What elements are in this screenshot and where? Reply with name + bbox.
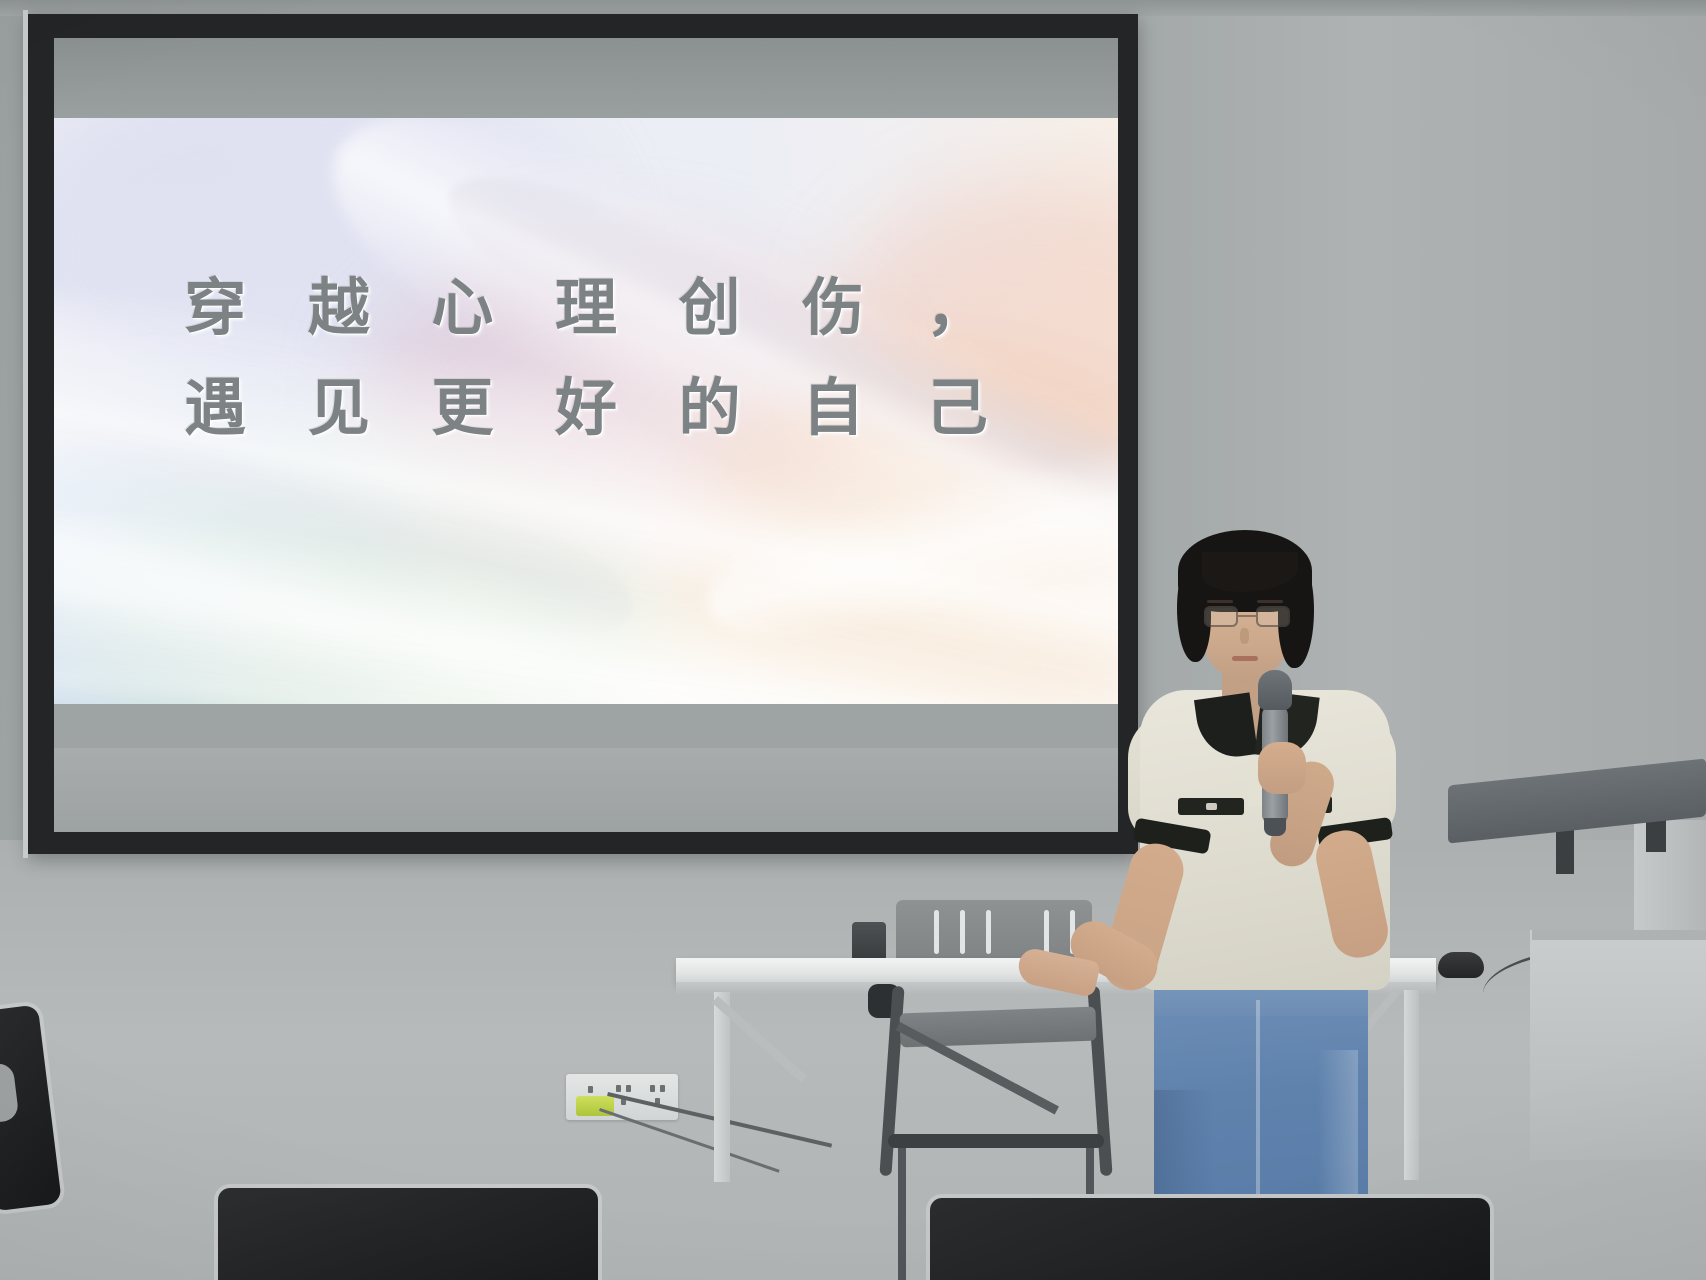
projection-screen-frame: 穿 越 心 理 创 伤 ，遇 见 更 好 的 自 己 — [28, 14, 1138, 854]
glasses-bridge — [1238, 615, 1256, 617]
socket-hole-5 — [650, 1085, 655, 1092]
foreground-chair-right — [930, 1198, 1490, 1280]
presenter-top-trim-left — [1178, 798, 1244, 815]
lectern-front-panel — [1530, 930, 1706, 1160]
glasses-lens-right — [1256, 606, 1290, 627]
glasses-icon — [1204, 606, 1290, 628]
socket-hole-3 — [626, 1085, 631, 1092]
socket-hole-2 — [616, 1085, 621, 1092]
screen-unlit-top-band — [54, 38, 1118, 118]
foreground-chair-center — [218, 1188, 598, 1280]
screen-unlit-bottom-band — [54, 748, 1118, 832]
microphone-icon — [1258, 670, 1292, 710]
socket-hole-6 — [660, 1085, 665, 1092]
microphone-base — [1264, 818, 1286, 836]
presenter-eyebrow-left — [1207, 600, 1233, 603]
slide-title-line-2: 遇 见 更 好 的 自 己 — [74, 358, 1118, 458]
chair-slot-4 — [1044, 910, 1049, 954]
glasses-lens-left — [1204, 606, 1238, 627]
presenter-hand-right — [1258, 742, 1306, 794]
presenter-nose — [1240, 628, 1249, 644]
presenter-mouth — [1232, 656, 1258, 661]
chair-leg-left — [898, 1148, 906, 1280]
chair-slot-2 — [960, 910, 965, 954]
table-leg-left — [714, 992, 730, 1182]
computer-mouse — [1438, 952, 1484, 978]
projection-screen-surface: 穿 越 心 理 创 伤 ，遇 见 更 好 的 自 己 — [54, 38, 1118, 832]
lecture-room-photo: 穿 越 心 理 创 伤 ，遇 见 更 好 的 自 己 — [0, 0, 1706, 1280]
slide-title: 穿 越 心 理 创 伤 ，遇 见 更 好 的 自 己 — [54, 258, 1118, 459]
chair-slot-1 — [934, 910, 939, 954]
chair-lower-rail — [888, 1134, 1104, 1148]
socket-hole-1 — [588, 1086, 593, 1093]
chair-slot-3 — [986, 910, 991, 954]
projected-slide: 穿 越 心 理 创 伤 ，遇 见 更 好 的 自 己 — [54, 118, 1118, 704]
slide-title-line-1: 穿 越 心 理 创 伤 ， — [184, 271, 1008, 344]
lectern-shelf — [1532, 930, 1706, 940]
presenter — [1080, 530, 1410, 1280]
presenter-eyebrow-right — [1257, 600, 1283, 603]
